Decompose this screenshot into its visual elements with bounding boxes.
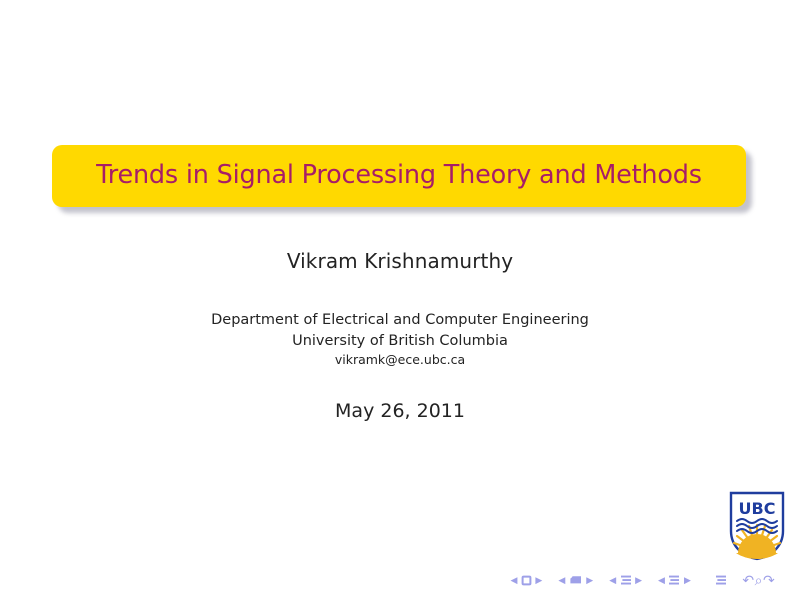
ubc-wordmark: UBC <box>739 499 776 518</box>
nav-document-icon[interactable] <box>714 573 728 589</box>
institute-email: vikramk@ece.ubc.ca <box>0 351 800 369</box>
nav-next-section-icon[interactable]: ▶ <box>633 577 645 586</box>
nav-back-find-forward-icon[interactable]: ↶⌕↷ <box>742 574 775 588</box>
nav-group-frame[interactable]: ◀ ▶ <box>508 573 545 589</box>
institute-department: Department of Electrical and Computer En… <box>0 310 800 331</box>
title-block: Trends in Signal Processing Theory and M… <box>52 145 746 207</box>
nav-presentation-icon[interactable] <box>667 573 681 589</box>
nav-group-subsection[interactable]: ◀ ▶ <box>556 573 596 589</box>
nav-section-icon[interactable] <box>619 573 633 589</box>
institute-block: Department of Electrical and Computer En… <box>0 310 800 369</box>
nav-group-presentation[interactable]: ◀ ▶ <box>656 573 694 589</box>
institute-university: University of British Columbia <box>0 331 800 352</box>
ubc-shield-icon: UBC <box>728 491 786 561</box>
nav-next-subsection-icon[interactable]: ▶ <box>584 577 596 586</box>
ubc-shield-logo: UBC <box>728 491 786 561</box>
page-title: Trends in Signal Processing Theory and M… <box>96 163 702 189</box>
nav-prev-frame-icon[interactable]: ◀ <box>508 577 520 586</box>
nav-frame-icon[interactable] <box>520 573 533 589</box>
presentation-date: May 26, 2011 <box>0 400 800 422</box>
nav-prev-presentation-icon[interactable]: ◀ <box>656 577 668 586</box>
nav-next-frame-icon[interactable]: ▶ <box>533 577 545 586</box>
beamer-navigation-bar[interactable]: ◀ ▶ ◀ ▶ ◀ <box>508 570 778 592</box>
title-box: Trends in Signal Processing Theory and M… <box>52 145 746 207</box>
nav-group-section[interactable]: ◀ ▶ <box>607 573 645 589</box>
nav-prev-section-icon[interactable]: ◀ <box>607 577 619 586</box>
nav-subsection-icon[interactable] <box>568 573 584 589</box>
slide-canvas: Trends in Signal Processing Theory and M… <box>0 0 800 600</box>
nav-prev-subsection-icon[interactable]: ◀ <box>556 577 568 586</box>
nav-next-presentation-icon[interactable]: ▶ <box>681 577 693 586</box>
author-name: Vikram Krishnamurthy <box>0 249 800 273</box>
